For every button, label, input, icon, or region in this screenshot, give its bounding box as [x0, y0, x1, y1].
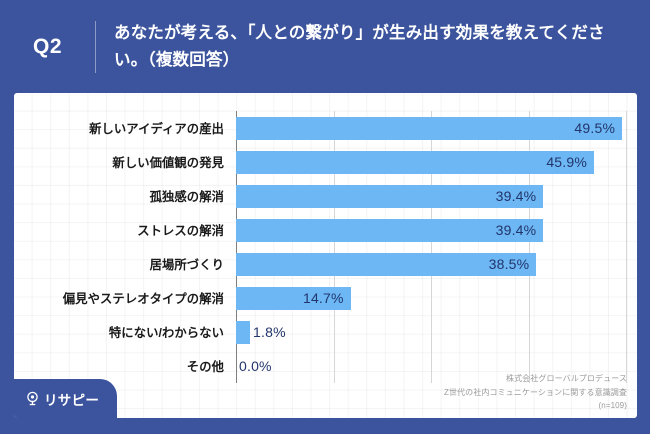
category-label: その他 [14, 357, 236, 375]
bar-track: 38.5% [236, 247, 637, 281]
category-label: 孤独感の解消 [14, 187, 236, 205]
credit-survey: Z世代の社内コミュニケーションに関する意識調査 [444, 386, 627, 399]
bar[interactable]: 49.5% [236, 117, 622, 140]
bar-track: 1.8% [236, 315, 637, 349]
question-title: あなたが考える、「人との繋がり」が生み出す効果を教えてください。（複数回答） [96, 20, 650, 73]
credit-sample-size: (n=109) [444, 399, 627, 412]
bar-track: 49.5% [236, 111, 637, 145]
chart-row: 偏見やステレオタイプの解消14.7% [14, 281, 637, 315]
category-label: 新しいアイディアの産出 [14, 119, 236, 137]
bar[interactable]: 39.4% [236, 219, 543, 242]
chart-row: 特にない/わからない1.8% [14, 315, 637, 349]
bar-track: 45.9% [236, 145, 637, 179]
credit-company: 株式会社グローバルプロデュース [444, 372, 627, 385]
question-number: Q2 [0, 35, 95, 59]
category-label: 偏見やステレオタイプの解消 [14, 289, 236, 307]
brand-logo-text: リサピー [44, 389, 99, 409]
bar[interactable]: 38.5% [236, 253, 536, 276]
bar-chart: 新しいアイディアの産出49.5%新しい価値観の発見45.9%孤独感の解消39.4… [14, 93, 637, 418]
credit-block: 株式会社グローバルプロデュース Z世代の社内コミュニケーションに関する意識調査 … [444, 372, 627, 412]
bar-value-label: 1.8% [250, 324, 286, 340]
bar[interactable]: 39.4% [236, 185, 543, 208]
bar-value-label: 38.5% [489, 256, 537, 272]
chart-row: 新しいアイディアの産出49.5% [14, 111, 637, 145]
chart-card: 新しいアイディアの産出49.5%新しい価値観の発見45.9%孤独感の解消39.4… [14, 93, 637, 418]
question-header: Q2 あなたが考える、「人との繋がり」が生み出す効果を教えてください。（複数回答… [0, 0, 650, 93]
bar-value-label: 49.5% [574, 120, 622, 136]
bar[interactable]: 14.7% [236, 287, 351, 310]
bar-value-label: 39.4% [496, 222, 544, 238]
bar-track: 39.4% [236, 179, 637, 213]
category-label: 居場所づくり [14, 255, 236, 273]
bar[interactable]: 45.9% [236, 151, 594, 174]
chart-row: ストレスの解消39.4% [14, 213, 637, 247]
bar-value-label: 0.0% [236, 358, 272, 374]
category-label: 新しい価値観の発見 [14, 153, 236, 171]
chart-row: 新しい価値観の発見45.9% [14, 145, 637, 179]
brand-logo[interactable]: リサピー [14, 379, 117, 418]
chart-row: 孤独感の解消39.4% [14, 179, 637, 213]
bar-value-label: 14.7% [303, 290, 351, 306]
bar-track: 14.7% [236, 281, 637, 315]
survey-slide: Q2 あなたが考える、「人との繋がり」が生み出す効果を教えてください。（複数回答… [0, 0, 650, 434]
magnifier-pin-icon [25, 391, 40, 406]
bar[interactable] [236, 321, 250, 344]
chart-row: 居場所づくり38.5% [14, 247, 637, 281]
category-label: ストレスの解消 [14, 221, 236, 239]
bar-track: 39.4% [236, 213, 637, 247]
category-label: 特にない/わからない [14, 323, 236, 341]
bar-value-label: 45.9% [546, 154, 594, 170]
bar-value-label: 39.4% [496, 188, 544, 204]
